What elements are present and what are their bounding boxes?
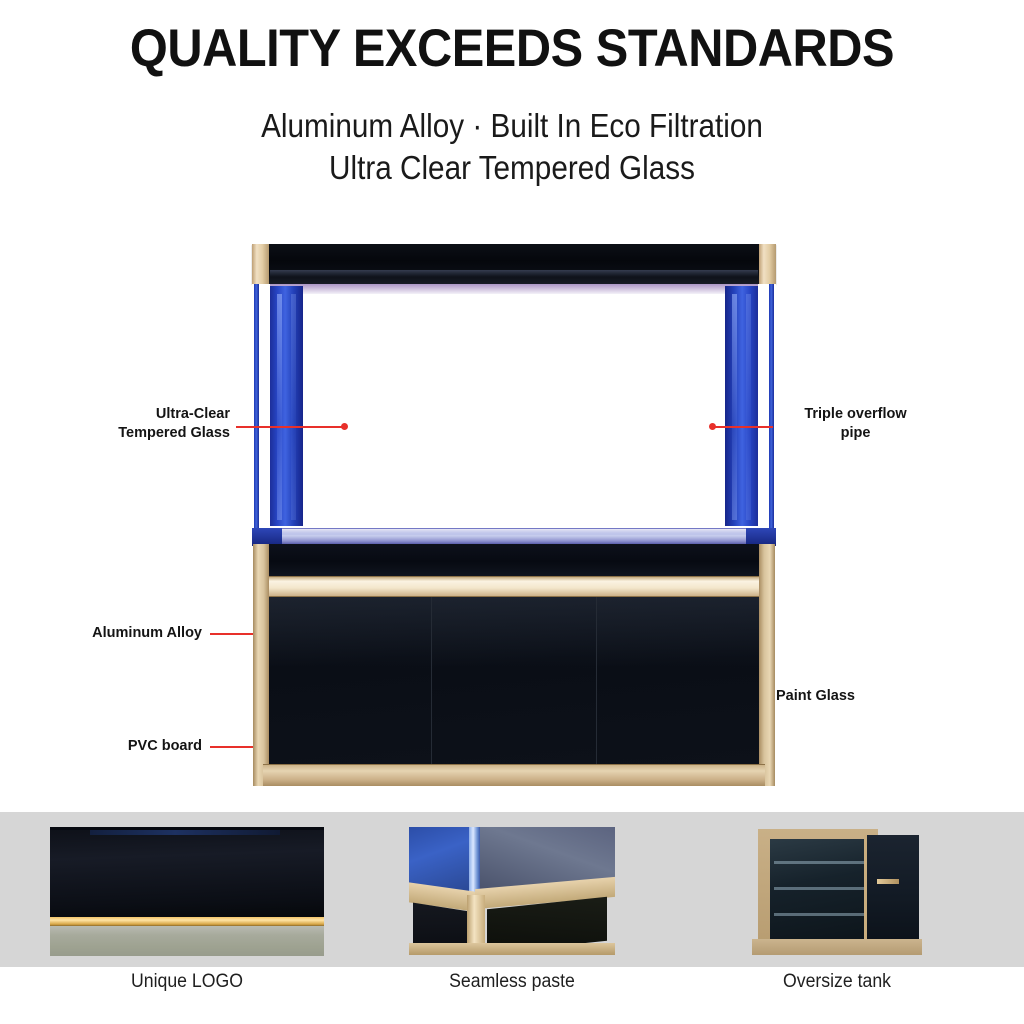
- pipe-highlight: [746, 294, 751, 520]
- open-cabinet-door: [864, 835, 919, 941]
- thumbnail-caption-oversize-tank: Oversize tank: [698, 971, 977, 993]
- interior-shelf: [774, 887, 866, 890]
- pipe-highlight: [277, 294, 282, 520]
- callout-label-paint-glass: Paint Glass: [776, 687, 926, 706]
- callout-dot-ultra-clear-tempered-glass: [341, 423, 348, 430]
- panel-top-edge: [90, 830, 280, 835]
- callout-line-ultra-clear-tempered-glass: [236, 426, 344, 428]
- overflow-pipe-right: [725, 286, 758, 526]
- glass-cavity: [304, 294, 724, 518]
- thumbnail-caption-seamless-paste: Seamless paste: [373, 971, 652, 993]
- cabinet-frame-left: [253, 544, 269, 786]
- callout-label-pvc-board: PVC board: [72, 737, 202, 756]
- page-title: QUALITY EXCEEDS STANDARDS: [41, 21, 983, 77]
- cabinet-top-band: [267, 544, 761, 576]
- open-cabinet-image: [752, 827, 922, 955]
- panel-floor: [50, 926, 324, 956]
- cabinet-door[interactable]: [597, 597, 761, 765]
- aquarium-tank: [252, 244, 776, 786]
- hood-corner-cap-right: [759, 244, 776, 284]
- subtitle-line-1: Aluminum Alloy · Built In Eco Filtration: [51, 108, 973, 144]
- thumbnail-caption-unique-logo: Unique LOGO: [48, 971, 327, 993]
- glass-top-tint: [270, 284, 758, 294]
- callout-line-triple-overflow-pipe: [715, 426, 773, 428]
- pipe-highlight: [291, 294, 296, 520]
- panel-gold-trim: [50, 917, 324, 926]
- cabinet-frame-right: [759, 544, 775, 786]
- cabinet-base-plinth: [263, 764, 765, 786]
- pipe-highlight: [732, 294, 737, 520]
- overflow-pipe-left: [270, 286, 303, 526]
- interior-shelf: [774, 861, 866, 864]
- glass-edge-left: [254, 284, 259, 528]
- logo-panel-image: [50, 827, 324, 920]
- door-sheen: [432, 597, 596, 668]
- hood-corner-cap-left: [252, 244, 269, 284]
- tempered-glass-body: [252, 284, 776, 528]
- door-sheen: [597, 597, 761, 668]
- hood-gloss: [270, 270, 758, 277]
- cabinet-door-handle: [877, 879, 899, 884]
- subtitle-line-2: Ultra Clear Tempered Glass: [51, 150, 973, 186]
- callout-dot-triple-overflow-pipe: [709, 423, 716, 430]
- thumbnail-strip: [0, 812, 1024, 967]
- glass-edge-right: [769, 284, 774, 528]
- cabinet-interior: [770, 839, 870, 939]
- tank-hood: [252, 244, 776, 284]
- thumbnail-seamless-paste[interactable]: [375, 823, 649, 956]
- product-illustration: Ultra-Clear Tempered Glass Triple overfl…: [0, 200, 1024, 812]
- interior-shelf: [774, 913, 866, 916]
- callout-label-aluminum-alloy: Aluminum Alloy: [50, 624, 202, 643]
- corner-bottom-rail: [409, 943, 615, 955]
- cabinet-doors: [267, 597, 761, 765]
- door-sheen: [267, 597, 431, 668]
- callout-label-triple-overflow-pipe: Triple overflow pipe: [778, 405, 933, 442]
- corner-closeup-image: [409, 827, 615, 955]
- thumbnail-unique-logo[interactable]: [50, 823, 324, 956]
- tank-floor-gloss: [278, 529, 750, 534]
- cabinet-door[interactable]: [432, 597, 597, 765]
- cabinet-stand: [253, 544, 775, 786]
- cabinet-gold-trim-strip: [267, 576, 761, 597]
- thumbnail-oversize-tank[interactable]: [700, 823, 974, 956]
- header: QUALITY EXCEEDS STANDARDS Aluminum Alloy…: [0, 0, 1024, 200]
- cabinet-body: [758, 829, 878, 949]
- cabinet-door[interactable]: [267, 597, 432, 765]
- cabinet-floor: [752, 939, 922, 955]
- callout-label-ultra-clear-tempered-glass: Ultra-Clear Tempered Glass: [85, 405, 230, 442]
